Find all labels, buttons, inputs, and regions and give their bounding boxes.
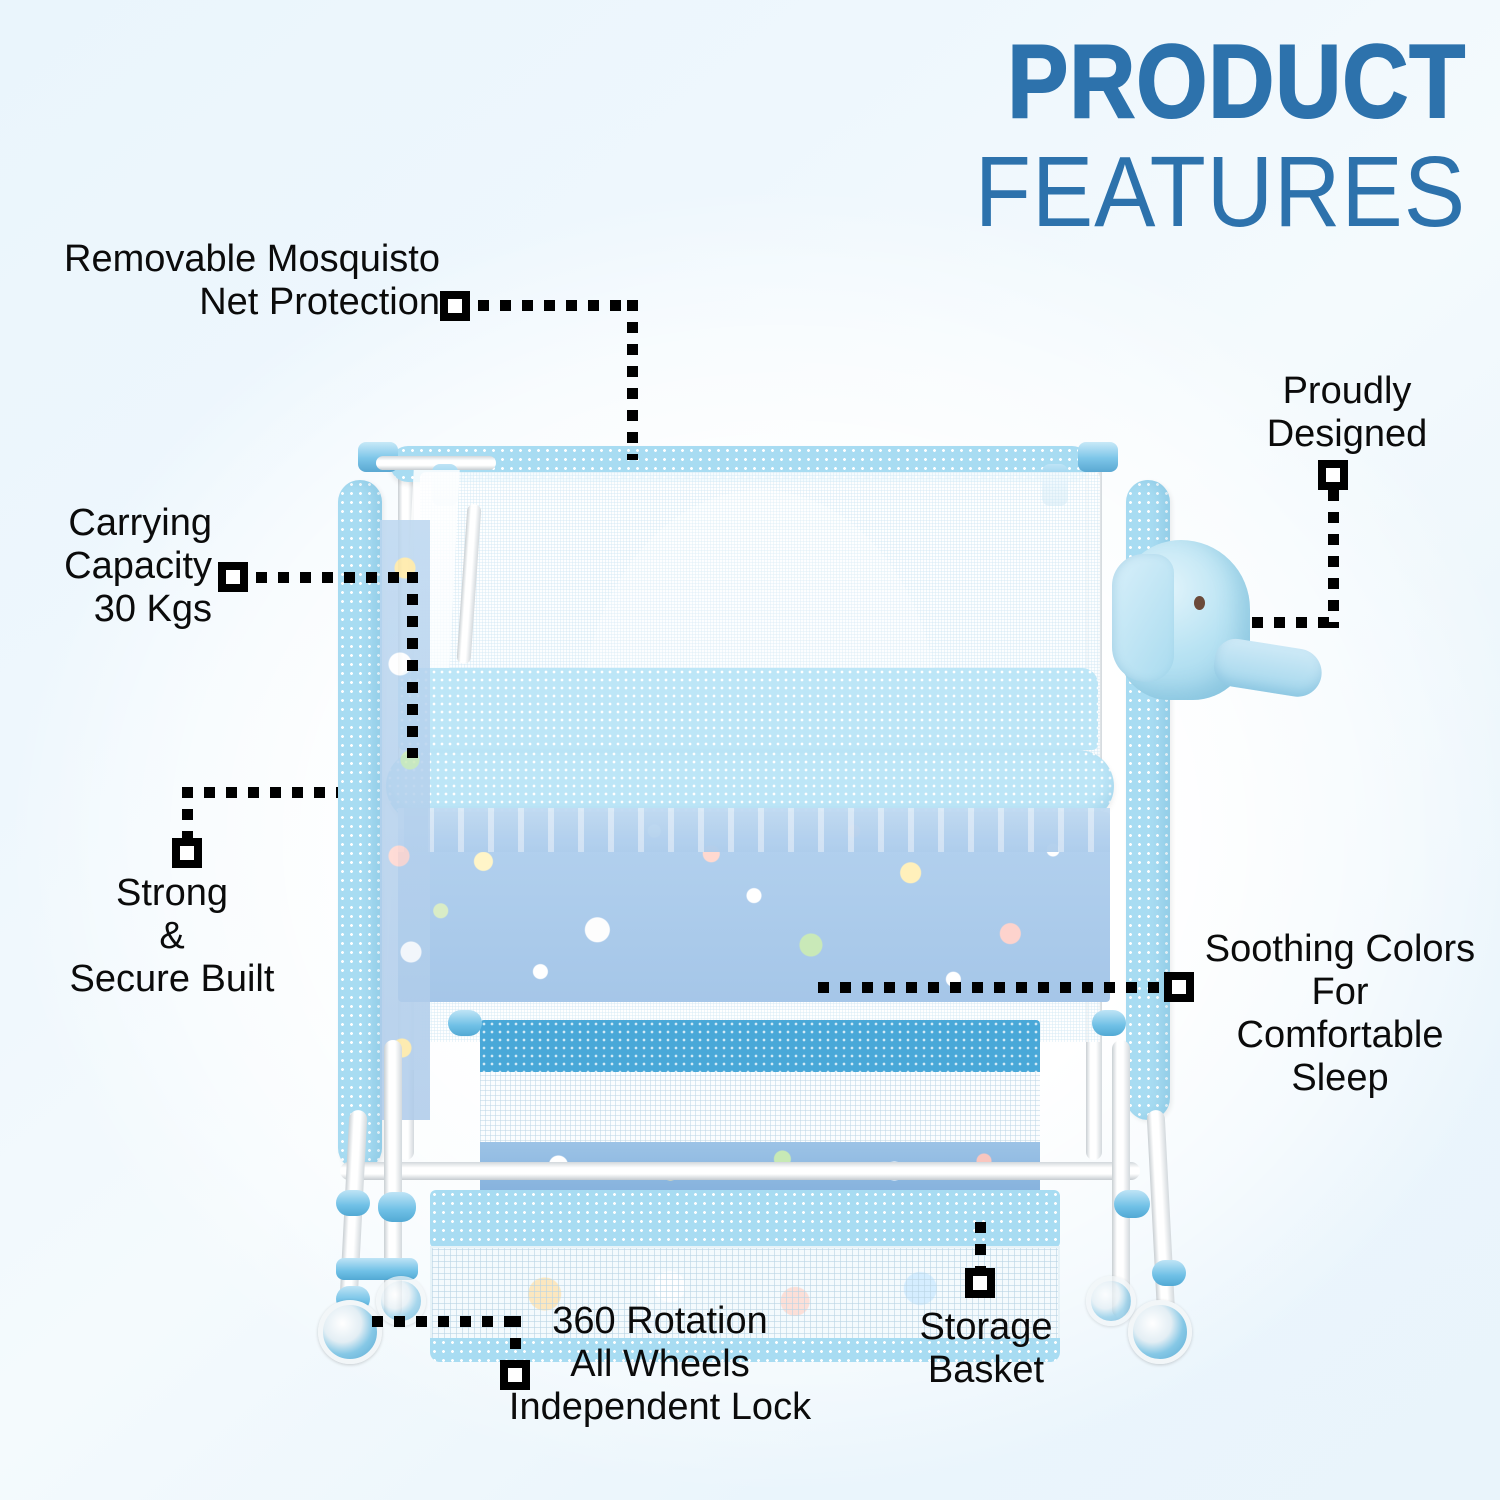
- callout-soothing-colors-marker: [1164, 972, 1194, 1002]
- connector-soothing-colors-h: [818, 982, 1166, 993]
- callout-storage-basket-label: Storage Basket: [860, 1306, 1112, 1392]
- canopy-rail-cap-right: [1078, 442, 1118, 472]
- connector-proudly-designed-v: [1328, 490, 1339, 628]
- connector-mosquito-net-h: [478, 300, 638, 311]
- callout-proudly-designed-label: Proudly Designed: [1222, 370, 1472, 456]
- infographic-canvas: PRODUCT FEATURES: [0, 0, 1500, 1500]
- side-panel-left-print: [380, 520, 430, 1120]
- side-post-left: [338, 480, 382, 1170]
- caster-wheel-front-right: [1128, 1300, 1192, 1364]
- joint-knob-left-2: [378, 1192, 416, 1222]
- fabric-ruffle: [398, 808, 1110, 852]
- callout-carrying-capacity-marker: [218, 562, 248, 592]
- joint-knob-right-2: [1152, 1260, 1186, 1286]
- connector-carrying-capacity-v: [407, 572, 418, 758]
- storage-basket-band: [430, 1190, 1060, 1248]
- callout-strong-secure-label: Strong & Secure Built: [22, 872, 322, 1001]
- connector-storage-basket-v: [975, 1222, 986, 1270]
- elephant-ear: [1112, 554, 1174, 682]
- callout-strong-secure-marker: [172, 838, 202, 868]
- plush-elephant-toy: [1118, 540, 1268, 740]
- callout-wheels-lock-marker: [500, 1360, 530, 1390]
- connector-wheels-lock-h: [372, 1316, 520, 1327]
- page-title: PRODUCT FEATURES: [932, 30, 1466, 242]
- connector-strong-secure-h: [182, 787, 338, 798]
- joint-knob-mid-right: [1092, 1010, 1126, 1036]
- connector-wheels-lock-v: [510, 1316, 521, 1364]
- joint-knob-mid-left: [448, 1010, 482, 1036]
- callout-carrying-capacity-label: Carrying Capacity 30 Kgs: [12, 502, 212, 631]
- frame-crossbar-lower: [340, 1162, 1140, 1180]
- callout-soothing-colors-label: Soothing Colors For Comfortable Sleep: [1190, 928, 1490, 1100]
- joint-knob-left-1: [336, 1190, 370, 1216]
- callout-mosquito-net-marker: [440, 291, 470, 321]
- mid-shelf-mesh: [480, 1072, 1040, 1146]
- product-image: [280, 420, 1220, 1380]
- callout-mosquito-net-label: Removable Mosquisto Net Protection: [60, 238, 440, 324]
- mid-shelf-band: [480, 1020, 1040, 1076]
- connector-strong-secure-v: [182, 787, 193, 843]
- callout-proudly-designed-marker: [1318, 460, 1348, 490]
- elephant-trunk: [1211, 636, 1325, 700]
- caster-wheel-front-left: [318, 1300, 382, 1364]
- connector-proudly-designed-h: [1252, 617, 1336, 628]
- callout-storage-basket-marker: [965, 1268, 995, 1298]
- title-line-product: PRODUCT: [996, 30, 1466, 134]
- connector-mosquito-net-v: [627, 300, 638, 460]
- frame-leg-front-right-b: [1146, 1110, 1175, 1323]
- bumper-rail-top: [398, 668, 1098, 750]
- title-line-features: FEATURES: [975, 142, 1466, 242]
- connector-carrying-capacity-h: [256, 572, 418, 583]
- elephant-eye: [1194, 596, 1205, 610]
- joint-knob-right-1: [1114, 1190, 1150, 1218]
